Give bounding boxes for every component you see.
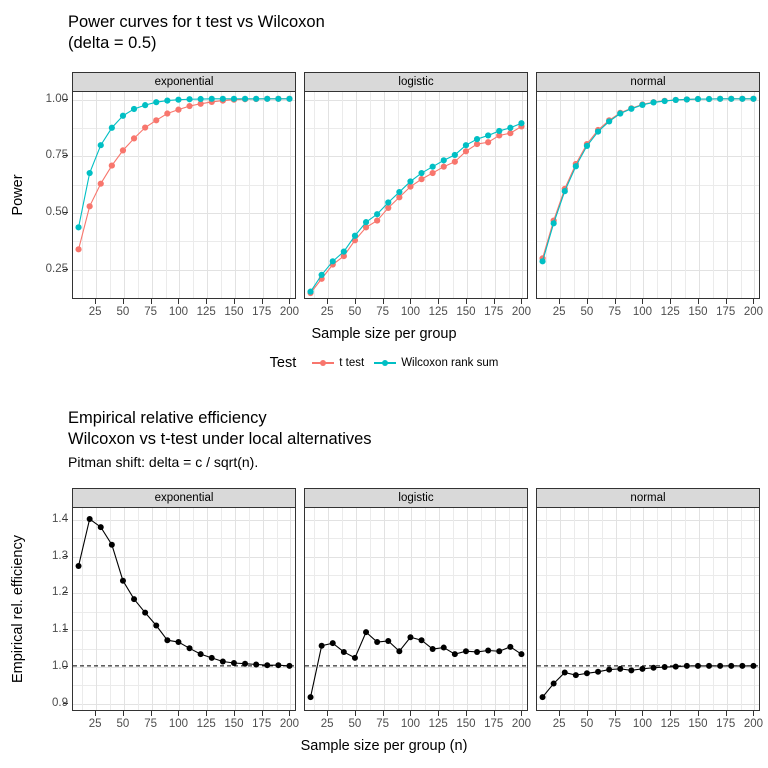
x-tick-label: 50 bbox=[117, 718, 130, 730]
x-tick-label: 25 bbox=[321, 306, 334, 318]
series-line bbox=[79, 99, 290, 250]
data-point bbox=[739, 96, 745, 102]
series-line bbox=[79, 519, 290, 666]
series-line bbox=[311, 126, 522, 293]
data-point bbox=[463, 148, 469, 154]
facet-strip-label-normal: normal bbox=[536, 72, 760, 91]
data-point bbox=[418, 170, 424, 176]
data-point bbox=[728, 96, 734, 102]
x-tick-label: 175 bbox=[484, 306, 503, 318]
x-tick-label: 75 bbox=[376, 718, 389, 730]
x-tick-label: 175 bbox=[252, 306, 271, 318]
facet-strip-label-normal: normal bbox=[536, 488, 760, 507]
data-point bbox=[551, 220, 557, 226]
x-tick-mark bbox=[670, 711, 671, 716]
data-point bbox=[750, 663, 756, 669]
x-tick-mark bbox=[642, 711, 643, 716]
data-point bbox=[584, 670, 590, 676]
y-tick-mark bbox=[63, 155, 68, 156]
x-tick-label: 50 bbox=[349, 718, 362, 730]
data-point bbox=[441, 157, 447, 163]
facet-strip-label-exponential: exponential bbox=[72, 72, 296, 91]
data-point bbox=[275, 662, 281, 668]
series-layer bbox=[537, 92, 759, 298]
x-tick-label: 125 bbox=[197, 718, 216, 730]
x-tick-label: 150 bbox=[224, 718, 243, 730]
data-point bbox=[507, 125, 513, 131]
data-point bbox=[98, 181, 104, 187]
efficiency-figure-subtitle: Pitman shift: delta = c / sqrt(n). bbox=[68, 453, 258, 471]
data-point bbox=[595, 669, 601, 675]
series-line bbox=[543, 666, 754, 697]
data-point bbox=[98, 142, 104, 148]
data-point bbox=[385, 199, 391, 205]
x-tick-mark bbox=[262, 711, 263, 716]
data-point bbox=[728, 663, 734, 669]
data-point bbox=[606, 118, 612, 124]
data-point bbox=[706, 663, 712, 669]
data-point bbox=[430, 164, 436, 170]
data-point bbox=[518, 651, 524, 657]
x-tick-mark bbox=[559, 299, 560, 304]
x-tick-mark bbox=[151, 711, 152, 716]
data-point bbox=[418, 176, 424, 182]
x-tick-mark bbox=[466, 299, 467, 304]
data-point bbox=[330, 640, 336, 646]
data-point bbox=[474, 649, 480, 655]
efficiency-figure: Empirical relative efficiency Wilcoxon v… bbox=[0, 396, 768, 768]
power-figure-title: Power curves for t test vs Wilcoxon (del… bbox=[68, 12, 325, 54]
series-layer bbox=[305, 92, 527, 298]
data-point bbox=[164, 637, 170, 643]
data-point bbox=[198, 651, 204, 657]
legend-key-swatch bbox=[374, 357, 396, 369]
x-tick-label: 125 bbox=[661, 718, 680, 730]
data-point bbox=[496, 128, 502, 134]
data-point bbox=[319, 272, 325, 278]
data-point bbox=[220, 659, 226, 665]
y-tick-mark bbox=[63, 703, 68, 704]
data-point bbox=[441, 164, 447, 170]
data-point bbox=[385, 205, 391, 211]
data-point bbox=[242, 661, 248, 667]
x-tick-mark bbox=[494, 711, 495, 716]
data-point bbox=[452, 159, 458, 165]
data-point bbox=[739, 663, 745, 669]
data-point bbox=[120, 578, 126, 584]
data-point bbox=[164, 110, 170, 116]
x-tick-label: 150 bbox=[688, 718, 707, 730]
efficiency-figure-title: Empirical relative efficiency Wilcoxon v… bbox=[68, 408, 372, 450]
data-point bbox=[374, 639, 380, 645]
y-tick-mark bbox=[63, 592, 68, 593]
data-point bbox=[209, 96, 215, 102]
data-point bbox=[562, 188, 568, 194]
data-point bbox=[109, 125, 115, 131]
data-point bbox=[639, 102, 645, 108]
x-tick-mark bbox=[438, 711, 439, 716]
facet-panel-normal: normal bbox=[536, 488, 760, 711]
data-point bbox=[75, 224, 81, 230]
series-layer bbox=[305, 508, 527, 710]
data-point bbox=[253, 96, 259, 102]
x-tick-label: 200 bbox=[744, 306, 763, 318]
x-tick-mark bbox=[151, 299, 152, 304]
x-tick-label: 175 bbox=[716, 306, 735, 318]
x-tick-mark bbox=[642, 299, 643, 304]
x-tick-label: 25 bbox=[89, 306, 102, 318]
data-point bbox=[164, 98, 170, 104]
data-point bbox=[463, 648, 469, 654]
x-tick-mark bbox=[410, 299, 411, 304]
data-point bbox=[220, 96, 226, 102]
y-tick-mark bbox=[63, 629, 68, 630]
data-point bbox=[452, 651, 458, 657]
data-point bbox=[628, 667, 634, 673]
legend-item-t-test[interactable]: t test bbox=[312, 357, 364, 369]
data-point bbox=[131, 596, 137, 602]
x-tick-label: 175 bbox=[252, 718, 271, 730]
data-point bbox=[396, 648, 402, 654]
facet-panel-exponential: exponential bbox=[72, 488, 296, 711]
x-tick-mark bbox=[753, 711, 754, 716]
x-tick-mark bbox=[289, 299, 290, 304]
data-point bbox=[374, 211, 380, 217]
panel-plot-area-normal bbox=[536, 507, 760, 711]
x-tick-mark bbox=[327, 711, 328, 716]
legend-title: Test bbox=[270, 355, 297, 371]
y-tick-mark bbox=[63, 556, 68, 557]
x-tick-label: 125 bbox=[197, 306, 216, 318]
data-point bbox=[131, 135, 137, 141]
data-point bbox=[695, 96, 701, 102]
x-tick-label: 50 bbox=[117, 306, 130, 318]
power-y-axis-ticks: 0.250.500.751.00 bbox=[30, 91, 68, 299]
data-point bbox=[352, 655, 358, 661]
efficiency-panel-row: exponentiallogisticnormal bbox=[72, 488, 760, 711]
data-point bbox=[684, 663, 690, 669]
data-point bbox=[606, 667, 612, 673]
x-tick-label: 200 bbox=[512, 718, 531, 730]
data-point bbox=[242, 96, 248, 102]
x-tick-mark bbox=[178, 711, 179, 716]
data-point bbox=[419, 637, 425, 643]
data-point bbox=[684, 96, 690, 102]
x-tick-mark bbox=[383, 711, 384, 716]
data-point bbox=[153, 99, 159, 105]
data-point bbox=[430, 646, 436, 652]
data-point bbox=[341, 649, 347, 655]
data-point bbox=[673, 97, 679, 103]
x-tick-label: 100 bbox=[169, 718, 188, 730]
legend-item-Wilcoxon-rank-sum[interactable]: Wilcoxon rank sum bbox=[374, 357, 498, 369]
x-tick-mark bbox=[559, 711, 560, 716]
x-tick-label: 125 bbox=[429, 718, 448, 730]
data-point bbox=[750, 96, 756, 102]
data-point bbox=[507, 644, 513, 650]
x-tick-label: 200 bbox=[744, 718, 763, 730]
x-tick-label: 150 bbox=[224, 306, 243, 318]
x-tick-mark bbox=[262, 299, 263, 304]
y-tick-mark bbox=[63, 269, 68, 270]
x-tick-label: 200 bbox=[280, 718, 299, 730]
x-tick-mark bbox=[521, 711, 522, 716]
data-point bbox=[186, 103, 192, 109]
x-tick-label: 150 bbox=[456, 306, 475, 318]
data-point bbox=[319, 643, 325, 649]
y-tick-mark bbox=[63, 99, 68, 100]
facet-panel-exponential: exponential bbox=[72, 72, 296, 299]
data-point bbox=[264, 662, 270, 668]
x-tick-mark bbox=[95, 711, 96, 716]
x-tick-label: 175 bbox=[716, 718, 735, 730]
data-point bbox=[639, 666, 645, 672]
data-point bbox=[573, 672, 579, 678]
data-point bbox=[584, 143, 590, 149]
data-point bbox=[650, 99, 656, 105]
data-point bbox=[341, 248, 347, 254]
data-point bbox=[76, 563, 82, 569]
data-point bbox=[142, 124, 148, 130]
data-point bbox=[120, 113, 126, 119]
data-point bbox=[673, 664, 679, 670]
legend-key-swatch bbox=[312, 357, 334, 369]
data-point bbox=[573, 163, 579, 169]
data-point bbox=[463, 142, 469, 148]
x-tick-mark bbox=[521, 299, 522, 304]
x-tick-label: 150 bbox=[688, 306, 707, 318]
data-point bbox=[562, 670, 568, 676]
data-point bbox=[186, 96, 192, 102]
power-y-axis-label: Power bbox=[10, 174, 26, 215]
data-point bbox=[717, 96, 723, 102]
data-point bbox=[286, 96, 292, 102]
data-point bbox=[109, 542, 115, 548]
series-layer bbox=[73, 508, 295, 710]
data-point bbox=[430, 170, 436, 176]
data-point bbox=[275, 96, 281, 102]
power-legend: Testt testWilcoxon rank sum bbox=[0, 355, 768, 371]
x-tick-label: 75 bbox=[144, 718, 157, 730]
x-tick-mark bbox=[587, 711, 588, 716]
data-point bbox=[142, 102, 148, 108]
data-point bbox=[628, 106, 634, 112]
data-point bbox=[474, 136, 480, 142]
data-point bbox=[253, 661, 259, 667]
data-point bbox=[485, 139, 491, 145]
x-tick-mark bbox=[698, 299, 699, 304]
x-tick-label: 50 bbox=[581, 718, 594, 730]
x-tick-label: 100 bbox=[169, 306, 188, 318]
data-point bbox=[695, 663, 701, 669]
series-line bbox=[311, 123, 522, 291]
legend-item-label: Wilcoxon rank sum bbox=[401, 357, 498, 369]
x-tick-label: 25 bbox=[553, 718, 566, 730]
facet-strip-label-logistic: logistic bbox=[304, 488, 528, 507]
data-point bbox=[595, 129, 601, 135]
x-tick-mark bbox=[726, 299, 727, 304]
data-point bbox=[87, 170, 93, 176]
data-point bbox=[551, 681, 557, 687]
x-tick-label: 25 bbox=[553, 306, 566, 318]
data-point bbox=[231, 660, 237, 666]
x-tick-mark bbox=[494, 299, 495, 304]
efficiency-y-axis-ticks: 0.91.01.11.21.31.4 bbox=[30, 507, 68, 711]
x-tick-label: 200 bbox=[280, 306, 299, 318]
x-tick-mark bbox=[234, 299, 235, 304]
data-point bbox=[363, 219, 369, 225]
data-point bbox=[187, 645, 193, 651]
x-tick-label: 150 bbox=[456, 718, 475, 730]
x-tick-mark bbox=[289, 711, 290, 716]
x-tick-label: 100 bbox=[401, 306, 420, 318]
data-point bbox=[264, 96, 270, 102]
data-point bbox=[198, 96, 204, 102]
panel-plot-area-logistic bbox=[304, 91, 528, 299]
series-line bbox=[311, 632, 522, 697]
series-line bbox=[543, 99, 754, 262]
data-point bbox=[617, 110, 623, 116]
data-point bbox=[307, 289, 313, 295]
data-point bbox=[540, 694, 546, 700]
x-tick-label: 175 bbox=[484, 718, 503, 730]
x-tick-mark bbox=[670, 299, 671, 304]
x-tick-mark bbox=[726, 711, 727, 716]
data-point bbox=[209, 655, 215, 661]
data-point bbox=[407, 178, 413, 184]
series-line bbox=[543, 99, 754, 259]
x-tick-mark bbox=[123, 299, 124, 304]
data-point bbox=[441, 645, 447, 651]
x-tick-label: 100 bbox=[633, 306, 652, 318]
x-tick-mark bbox=[615, 711, 616, 716]
x-tick-label: 200 bbox=[512, 306, 531, 318]
x-tick-mark bbox=[466, 711, 467, 716]
data-point bbox=[717, 663, 723, 669]
x-tick-label: 50 bbox=[349, 306, 362, 318]
x-tick-label: 100 bbox=[401, 718, 420, 730]
data-point bbox=[330, 258, 336, 264]
x-tick-label: 75 bbox=[376, 306, 389, 318]
x-tick-label: 75 bbox=[608, 718, 621, 730]
y-tick-mark bbox=[63, 666, 68, 667]
x-tick-mark bbox=[438, 299, 439, 304]
power-panel-row: exponentiallogisticnormal bbox=[72, 72, 760, 299]
series-layer bbox=[73, 92, 295, 298]
x-tick-mark bbox=[123, 711, 124, 716]
data-point bbox=[87, 203, 93, 209]
x-tick-label: 100 bbox=[633, 718, 652, 730]
x-tick-label: 75 bbox=[144, 306, 157, 318]
efficiency-x-axis-label: Sample size per group (n) bbox=[0, 738, 768, 754]
data-point bbox=[175, 107, 181, 113]
x-tick-mark bbox=[383, 299, 384, 304]
x-tick-label: 125 bbox=[661, 306, 680, 318]
x-tick-mark bbox=[95, 299, 96, 304]
facet-panel-normal: normal bbox=[536, 72, 760, 299]
data-point bbox=[109, 162, 115, 168]
data-point bbox=[507, 130, 513, 136]
facet-panel-logistic: logistic bbox=[304, 488, 528, 711]
facet-panel-logistic: logistic bbox=[304, 72, 528, 299]
data-point bbox=[706, 96, 712, 102]
data-point bbox=[153, 117, 159, 123]
data-point bbox=[363, 629, 369, 635]
x-tick-mark bbox=[587, 299, 588, 304]
x-tick-mark bbox=[355, 711, 356, 716]
x-tick-mark bbox=[234, 711, 235, 716]
data-point bbox=[175, 639, 181, 645]
y-tick-mark bbox=[63, 212, 68, 213]
data-point bbox=[231, 96, 237, 102]
x-tick-label: 25 bbox=[89, 718, 102, 730]
data-point bbox=[286, 663, 292, 669]
x-tick-label: 25 bbox=[321, 718, 334, 730]
facet-strip-label-exponential: exponential bbox=[72, 488, 296, 507]
facet-strip-label-logistic: logistic bbox=[304, 72, 528, 91]
x-tick-label: 50 bbox=[581, 306, 594, 318]
x-tick-mark bbox=[206, 299, 207, 304]
data-point bbox=[496, 648, 502, 654]
data-point bbox=[308, 694, 314, 700]
data-point bbox=[87, 516, 93, 522]
data-point bbox=[485, 132, 491, 138]
panel-plot-area-normal bbox=[536, 91, 760, 299]
data-point bbox=[385, 638, 391, 644]
data-point bbox=[120, 147, 126, 153]
x-tick-mark bbox=[355, 299, 356, 304]
data-point bbox=[651, 665, 657, 671]
power-x-axis-label: Sample size per group bbox=[0, 326, 768, 342]
data-point bbox=[131, 106, 137, 112]
series-layer bbox=[537, 508, 759, 710]
x-tick-mark bbox=[178, 299, 179, 304]
data-point bbox=[485, 648, 491, 654]
y-tick-mark bbox=[63, 519, 68, 520]
data-point bbox=[374, 217, 380, 223]
x-tick-mark bbox=[698, 711, 699, 716]
data-point bbox=[396, 189, 402, 195]
data-point bbox=[452, 152, 458, 158]
x-tick-label: 125 bbox=[429, 306, 448, 318]
efficiency-y-axis-label: Empirical rel. efficiency bbox=[10, 535, 26, 683]
data-point bbox=[518, 120, 524, 126]
x-tick-label: 75 bbox=[608, 306, 621, 318]
panel-plot-area-logistic bbox=[304, 507, 528, 711]
legend-item-label: t test bbox=[339, 357, 364, 369]
data-point bbox=[539, 258, 545, 264]
data-point bbox=[175, 97, 181, 103]
data-point bbox=[153, 623, 159, 629]
data-point bbox=[75, 246, 81, 252]
power-curves-figure: Power curves for t test vs Wilcoxon (del… bbox=[0, 0, 768, 392]
x-tick-mark bbox=[206, 711, 207, 716]
data-point bbox=[352, 233, 358, 239]
data-point bbox=[407, 634, 413, 640]
panel-plot-area-exponential bbox=[72, 507, 296, 711]
panel-plot-area-exponential bbox=[72, 91, 296, 299]
x-tick-mark bbox=[410, 711, 411, 716]
data-point bbox=[662, 664, 668, 670]
x-tick-mark bbox=[753, 299, 754, 304]
data-point bbox=[98, 524, 104, 530]
data-point bbox=[617, 666, 623, 672]
data-point bbox=[662, 98, 668, 104]
x-tick-mark bbox=[327, 299, 328, 304]
x-tick-mark bbox=[615, 299, 616, 304]
data-point bbox=[142, 610, 148, 616]
